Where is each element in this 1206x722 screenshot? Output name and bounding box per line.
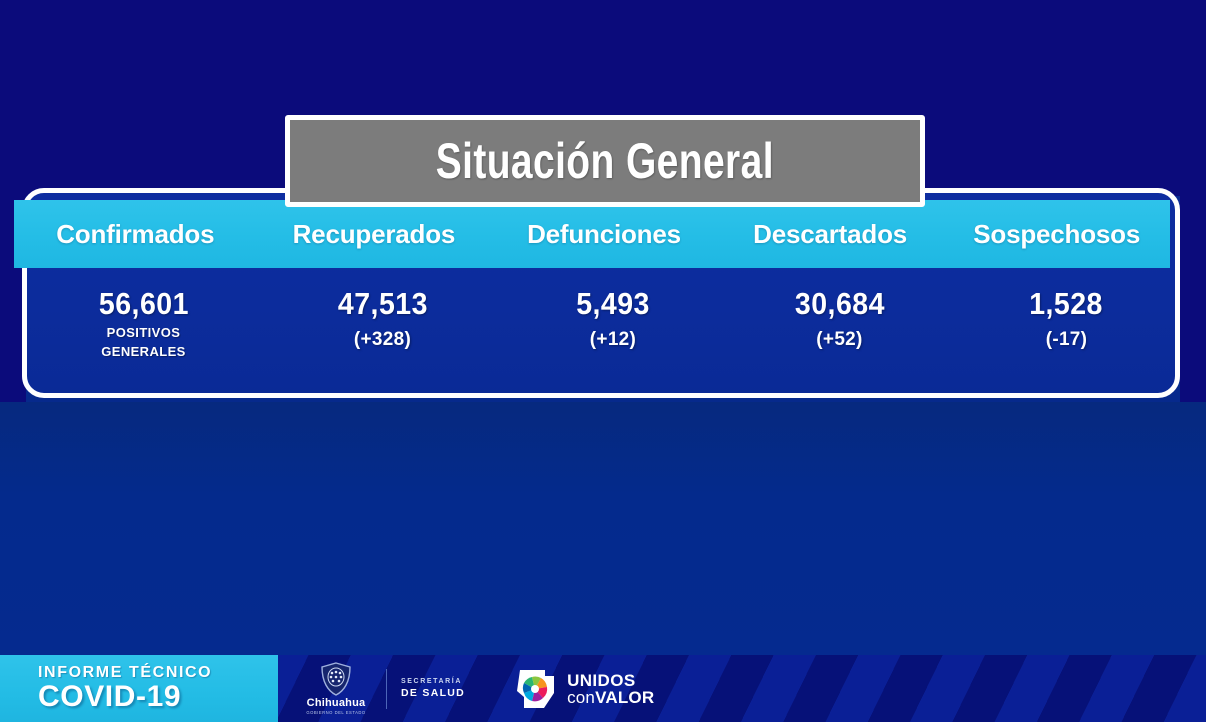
stat-delta-sospechosos: (-17) [1046,329,1088,351]
shield-icon [321,662,351,696]
chihuahua-sublabel: GOBIERNO DEL ESTADO [306,710,365,715]
stat-sub-confirmados-line1: POSITIVOS [107,325,181,341]
stat-delta-defunciones: (+12) [590,329,636,351]
page-title: Situación General [436,132,774,190]
stat-sub-confirmados-line2: GENERALES [101,344,186,360]
stat-value-descartados: 30,684 [794,286,884,322]
stat-value-defunciones: 5,493 [576,286,650,322]
unidos-con-valor-text: UNIDOS conVALOR [567,672,654,706]
background-card-gutter-right [1180,196,1206,402]
pinwheel-state-icon [511,667,559,711]
table-header-row: Confirmados Recuperados Defunciones Desc… [14,200,1170,268]
column-header-recuperados: Recuperados [257,200,492,268]
stat-descartados: 30,684 (+52) [726,274,953,394]
column-header-descartados: Descartados [717,200,944,268]
secretaria-salud-logo: SECRETARÍA DE SALUD [401,678,465,699]
footer-report-title: COVID-19 [38,680,278,714]
unidos-con-valor-logo: UNIDOS conVALOR [511,667,654,711]
footer-bar: INFORME TÉCNICO COVID-19 Chihuahua GOBIE… [0,655,1206,722]
salud-line1: SECRETARÍA [401,678,465,685]
salud-line2: DE SALUD [401,687,465,699]
stat-recuperados: 47,513 (+328) [265,274,500,394]
unidos-con: con [567,688,595,707]
stat-value-recuperados: 47,513 [337,286,427,322]
page-title-plaque: Situación General [285,115,925,207]
chihuahua-logo: Chihuahua GOBIERNO DEL ESTADO [300,662,372,715]
stat-value-confirmados: 56,601 [98,286,188,322]
stat-defunciones: 5,493 (+12) [500,274,726,394]
unidos-valor: VALOR [595,688,654,707]
stat-value-sospechosos: 1,528 [1030,286,1104,322]
stat-confirmados: 56,601 POSITIVOS GENERALES [22,274,265,394]
column-header-defunciones: Defunciones [491,200,717,268]
column-header-sospechosos: Sospechosos [943,200,1170,268]
background-lower-band [0,402,1206,655]
table-data-row: 56,601 POSITIVOS GENERALES 47,513 (+328)… [22,274,1180,394]
stat-delta-descartados: (+52) [816,329,862,351]
footer-logo-group: Chihuahua GOBIERNO DEL ESTADO SECRETARÍA… [300,655,654,722]
chihuahua-name: Chihuahua [307,697,366,709]
column-header-confirmados: Confirmados [14,200,257,268]
stat-delta-recuperados: (+328) [354,329,411,351]
stat-sospechosos: 1,528 (-17) [953,274,1180,394]
unidos-line2: conVALOR [567,689,654,706]
logo-divider [386,669,387,709]
unidos-line1: UNIDOS [567,672,654,689]
footer-report-block: INFORME TÉCNICO COVID-19 [0,655,278,722]
